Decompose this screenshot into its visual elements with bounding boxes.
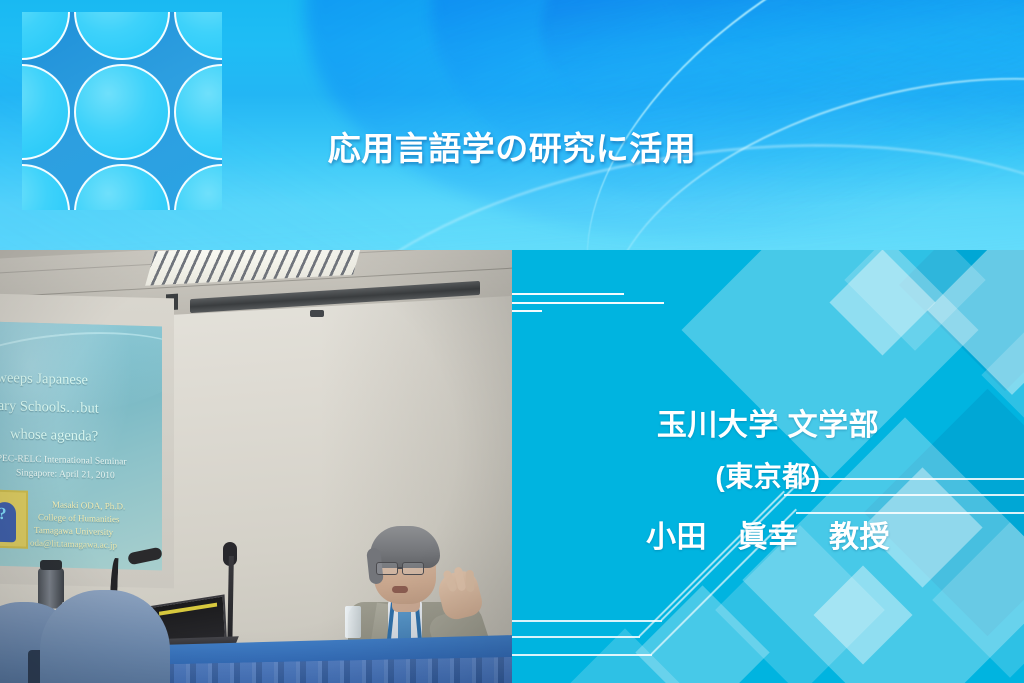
header-wave-top-sheen [610,0,1024,238]
presentation-slide: 応用言語学の研究に活用 [0,0,1024,683]
presenter-photo: h sweeps Japanese entary Schools…but who… [0,250,512,683]
affiliation-location: (東京都) [512,455,1024,495]
affiliation-block: 玉川大学 文学部 (東京都) 小田 眞幸 教授 [512,250,1024,683]
affiliation-university: 玉川大学 文学部 [512,400,1024,444]
header-filament-3 [258,97,1024,250]
photo-vignette [0,250,512,683]
slide-title: 応用言語学の研究に活用 [0,122,1024,170]
four-point-star-logo-icon [22,12,222,210]
affiliation-presenter: 小田 眞幸 教授 [512,512,1024,556]
